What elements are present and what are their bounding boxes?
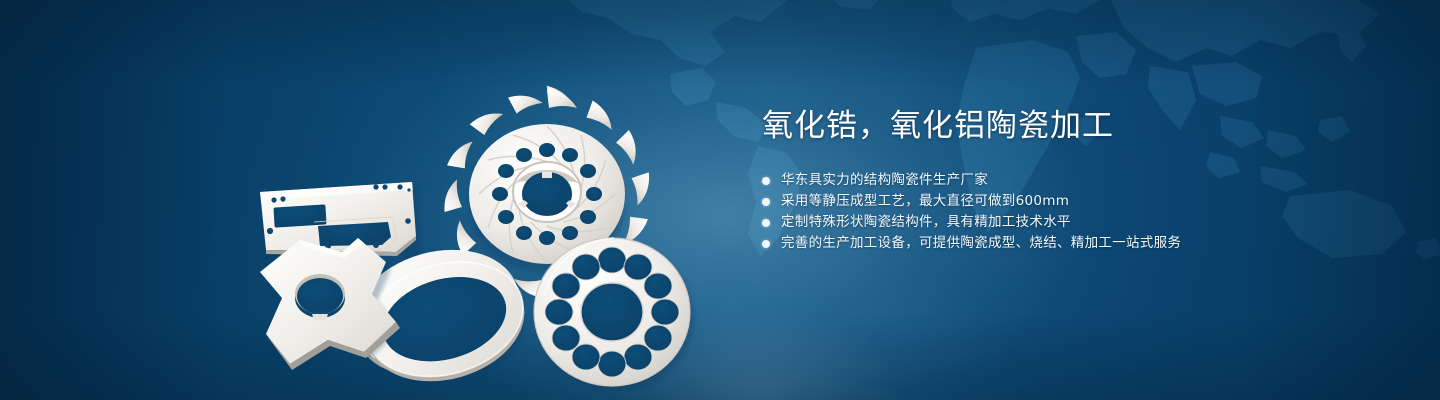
list-item: 华东具实力的结构陶瓷件生产厂家 bbox=[762, 170, 1362, 191]
banner-copy: 氧化锆，氧化铝陶瓷加工 华东具实力的结构陶瓷件生产厂家 采用等静压成型工艺，最大… bbox=[762, 106, 1362, 270]
bullet-dot-icon bbox=[762, 240, 770, 248]
product-image-group bbox=[230, 40, 700, 390]
list-item-label: 华东具实力的结构陶瓷件生产厂家 bbox=[781, 170, 988, 191]
list-item: 采用等静压成型工艺，最大直径可做到600mm bbox=[762, 191, 1362, 212]
list-item-label: 完善的生产加工设备，可提供陶瓷成型、烧结、精加工一站式服务 bbox=[781, 233, 1181, 254]
list-item-label: 定制特殊形状陶瓷结构件，具有精加工技术水平 bbox=[781, 212, 1071, 233]
bullet-dot-icon bbox=[762, 198, 770, 206]
feature-list: 华东具实力的结构陶瓷件生产厂家 采用等静压成型工艺，最大直径可做到600mm 定… bbox=[762, 170, 1362, 254]
list-item: 定制特殊形状陶瓷结构件，具有精加工技术水平 bbox=[762, 212, 1362, 233]
list-item: 完善的生产加工设备，可提供陶瓷成型、烧结、精加工一站式服务 bbox=[762, 233, 1362, 254]
ceramic-base-plate bbox=[260, 182, 422, 260]
page-title: 氧化锆，氧化铝陶瓷加工 bbox=[762, 106, 1362, 146]
bullet-dot-icon bbox=[762, 177, 770, 185]
list-item-label: 采用等静压成型工艺，最大直径可做到600mm bbox=[781, 191, 1069, 212]
ceramic-hole-disc bbox=[534, 238, 694, 390]
hero-banner: 氧化锆，氧化铝陶瓷加工 华东具实力的结构陶瓷件生产厂家 采用等静压成型工艺，最大… bbox=[0, 0, 1440, 400]
bullet-dot-icon bbox=[762, 219, 770, 227]
